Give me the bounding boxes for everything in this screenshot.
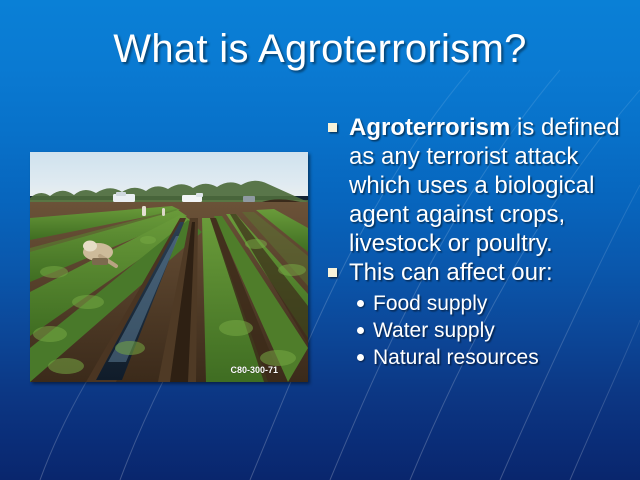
list-item: This can affect our: [325, 258, 630, 287]
round-bullet-icon [357, 354, 364, 361]
sub-bullet-text: Food supply [373, 292, 487, 315]
list-item: Agroterrorism is defined as any terroris… [325, 113, 630, 258]
sub-bullet-list: Food supply Water supply Natural resourc… [325, 290, 630, 371]
slide-body-text: Agroterrorism is defined as any terroris… [325, 113, 630, 371]
sub-bullet-text: Water supply [373, 319, 495, 342]
svg-text:C80-300-71: C80-300-71 [230, 365, 278, 375]
list-item: Natural resources [355, 344, 630, 371]
slide-photo: C80-300-71 C80-300-71 [30, 152, 308, 382]
sub-bullet-text: Natural resources [373, 346, 539, 369]
bullet-lead-text: Agroterrorism [349, 114, 510, 141]
farm-field-illustration: C80-300-71 [30, 152, 308, 382]
bullet-body-text: This can affect our: [349, 259, 553, 286]
list-item: Food supply [355, 290, 630, 317]
square-bullet-icon [328, 268, 337, 277]
presentation-slide: What is Agroterrorism? [0, 0, 640, 480]
round-bullet-icon [357, 327, 364, 334]
page-title: What is Agroterrorism? [0, 27, 640, 72]
round-bullet-icon [357, 300, 364, 307]
square-bullet-icon [328, 123, 337, 132]
list-item: Water supply [355, 317, 630, 344]
